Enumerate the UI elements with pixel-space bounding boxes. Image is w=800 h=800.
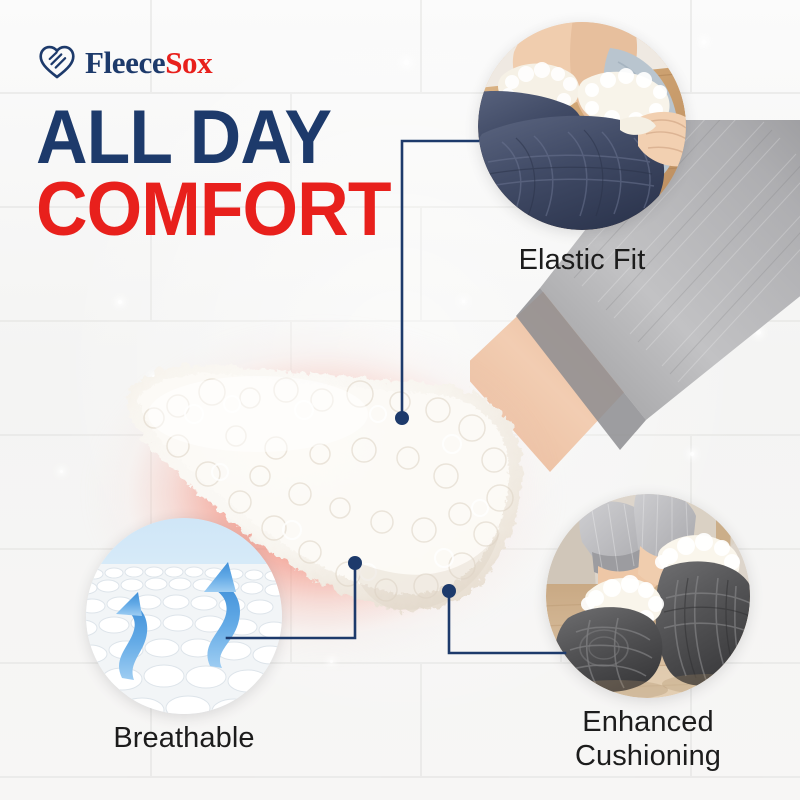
feature-label-enhanced-cushioning: Enhanced Cushioning <box>528 706 768 773</box>
feature-image-elastic-fit <box>478 22 686 230</box>
feature-label-elastic-fit: Elastic Fit <box>478 244 686 278</box>
brand-wordmark: FleeceSox <box>85 47 212 78</box>
headline-line-1: ALL DAY <box>36 104 391 172</box>
headline: ALL DAY COMFORT <box>36 104 413 245</box>
feature-image-enhanced-cushioning <box>546 494 750 698</box>
heart-icon <box>38 44 76 80</box>
headline-line-2: COMFORT <box>36 176 391 244</box>
feature-label-breathable: Breathable <box>86 722 282 756</box>
feature-image-breathable <box>86 518 282 714</box>
brand-logo[interactable]: FleeceSox <box>38 44 212 80</box>
ad-creative: FleeceSox ALL DAY COMFORT <box>0 0 800 800</box>
brand-name-fleece: Fleece <box>85 45 165 80</box>
brand-name-sox: Sox <box>165 45 212 80</box>
